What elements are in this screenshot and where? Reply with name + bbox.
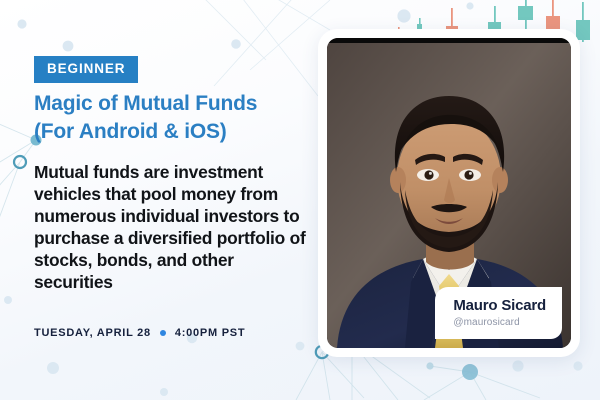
page-title: Magic of Mutual Funds (For Android & iOS… — [34, 90, 324, 146]
content-column: BEGINNER Magic of Mutual Funds (For Andr… — [34, 0, 320, 400]
event-schedule: TUESDAY, APRIL 28 4:00PM PST — [34, 327, 245, 339]
description-text: Mutual funds are investment vehicles tha… — [34, 161, 310, 294]
title-line-2: (For Android & iOS) — [34, 118, 324, 146]
speaker-handle: @maurosicard — [453, 317, 546, 328]
speaker-name-card: Mauro Sicard @maurosicard — [435, 287, 562, 340]
event-time: 4:00PM PST — [175, 327, 245, 339]
event-date: TUESDAY, APRIL 28 — [34, 327, 151, 339]
webinar-promo-banner: BEGINNER Magic of Mutual Funds (For Andr… — [0, 0, 600, 400]
speaker-name: Mauro Sicard — [453, 298, 546, 315]
level-badge: BEGINNER — [34, 56, 138, 83]
bullet-dot-icon — [160, 330, 166, 336]
title-line-1: Magic of Mutual Funds — [34, 92, 257, 115]
speaker-photo-frame: Mauro Sicard @maurosicard — [327, 38, 571, 348]
speaker-photo-card: Mauro Sicard @maurosicard — [318, 29, 580, 357]
